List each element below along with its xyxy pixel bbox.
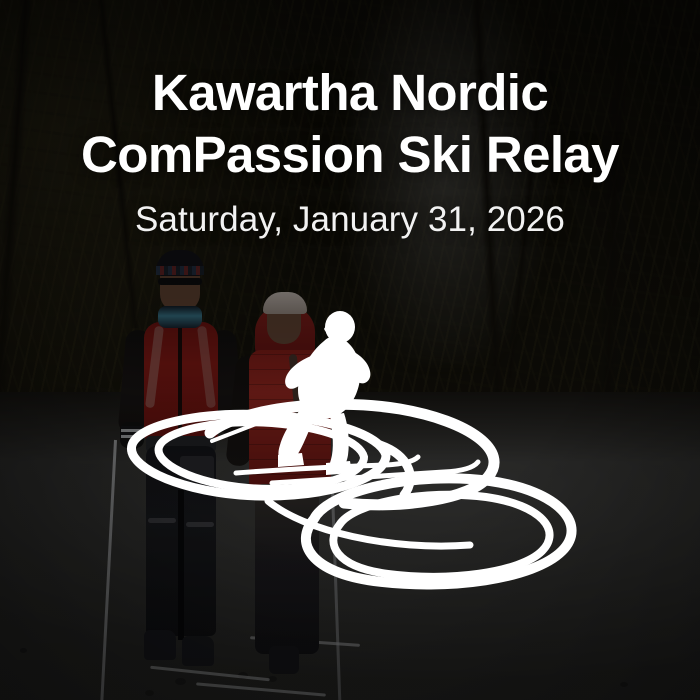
skier-boot-rear [278, 453, 304, 467]
page-title-line-1: Kawartha Nordic [0, 62, 700, 124]
event-date: Saturday, January 31, 2026 [0, 199, 700, 241]
page-title-line-2: ComPassion Ski Relay [0, 124, 700, 186]
poster-text-block: Kawartha Nordic ComPassion Ski Relay Sat… [0, 62, 700, 241]
kawartha-nordic-skier-swirl-logo [118, 305, 588, 605]
event-poster: Kawartha Nordic ComPassion Ski Relay Sat… [0, 0, 700, 700]
ski-track-swirls [131, 404, 571, 584]
